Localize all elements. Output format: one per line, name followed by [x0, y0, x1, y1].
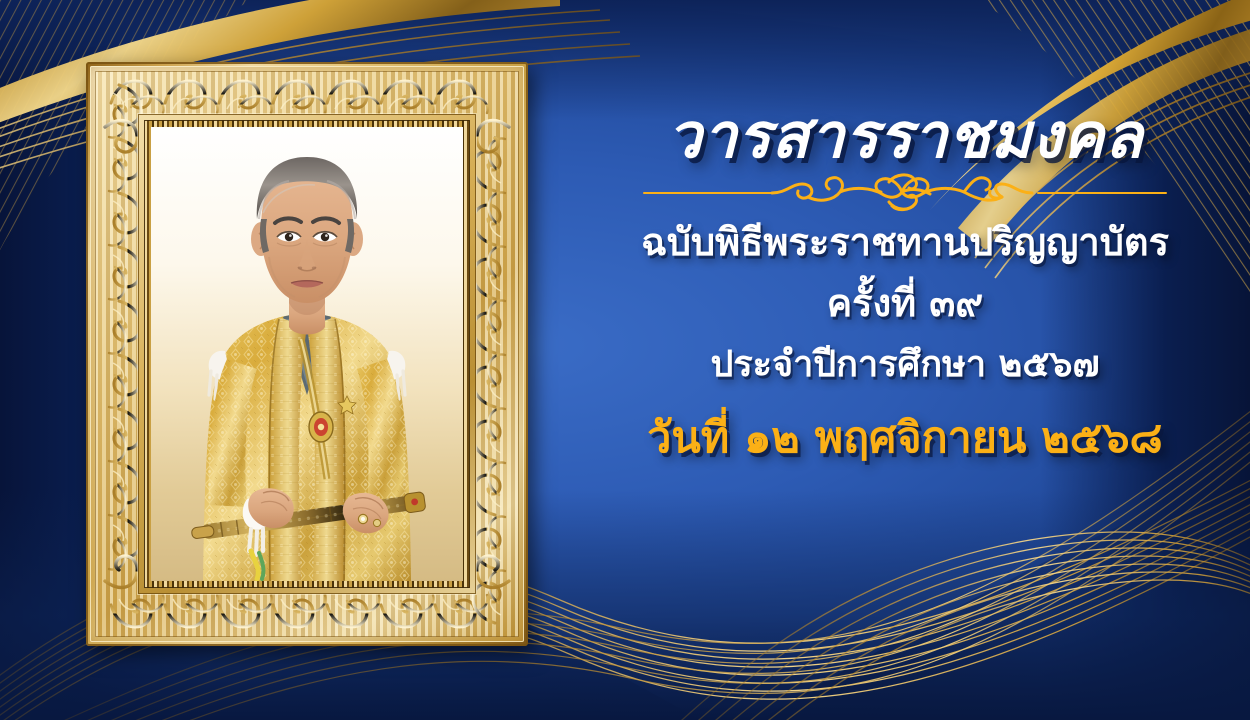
- subtitle-line-3: ประจำปีการศึกษา ๒๕๖๗: [710, 344, 1099, 386]
- subtitle-line-2: ครั้งที่ ๓๙: [827, 281, 983, 326]
- page-title: วารสารราชมงคล: [667, 104, 1143, 168]
- royal-portrait-image: [151, 127, 463, 581]
- poster-canvas: วารสารราชมงคล ฉบับพิธีพระร: [0, 0, 1250, 720]
- text-column: วารสารราชมงคล ฉบับพิธีพระร: [560, 0, 1250, 720]
- event-date-line: วันที่ ๑๒ พฤศจิกายน ๒๕๖๘: [647, 403, 1162, 471]
- portrait-mat: [151, 127, 463, 581]
- ornamental-flourish-divider-icon: [640, 170, 1170, 216]
- portrait-frame: [86, 62, 528, 646]
- subtitle-line-1: ฉบับพิธีพระราชทานปริญญาบัตร: [641, 220, 1169, 265]
